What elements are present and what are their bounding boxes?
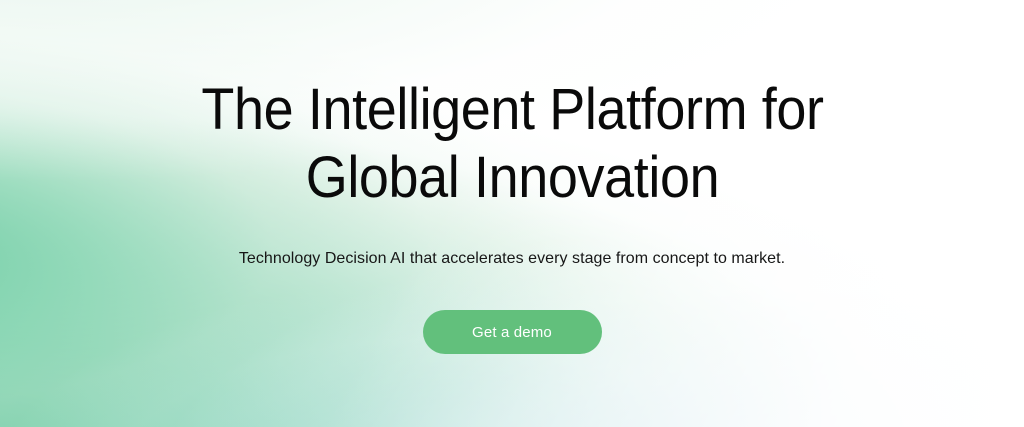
get-a-demo-button[interactable]: Get a demo	[423, 310, 602, 354]
hero-subtitle: Technology Decision AI that accelerates …	[239, 212, 785, 270]
headline-line-2: Global Innovation	[201, 144, 823, 212]
cta-container: Get a demo	[423, 270, 602, 354]
headline-line-1: The Intelligent Platform for	[201, 76, 823, 144]
hero-content: The Intelligent Platform for Global Inno…	[0, 0, 1024, 427]
page-title: The Intelligent Platform for Global Inno…	[201, 76, 823, 212]
hero-section: The Intelligent Platform for Global Inno…	[0, 0, 1024, 427]
